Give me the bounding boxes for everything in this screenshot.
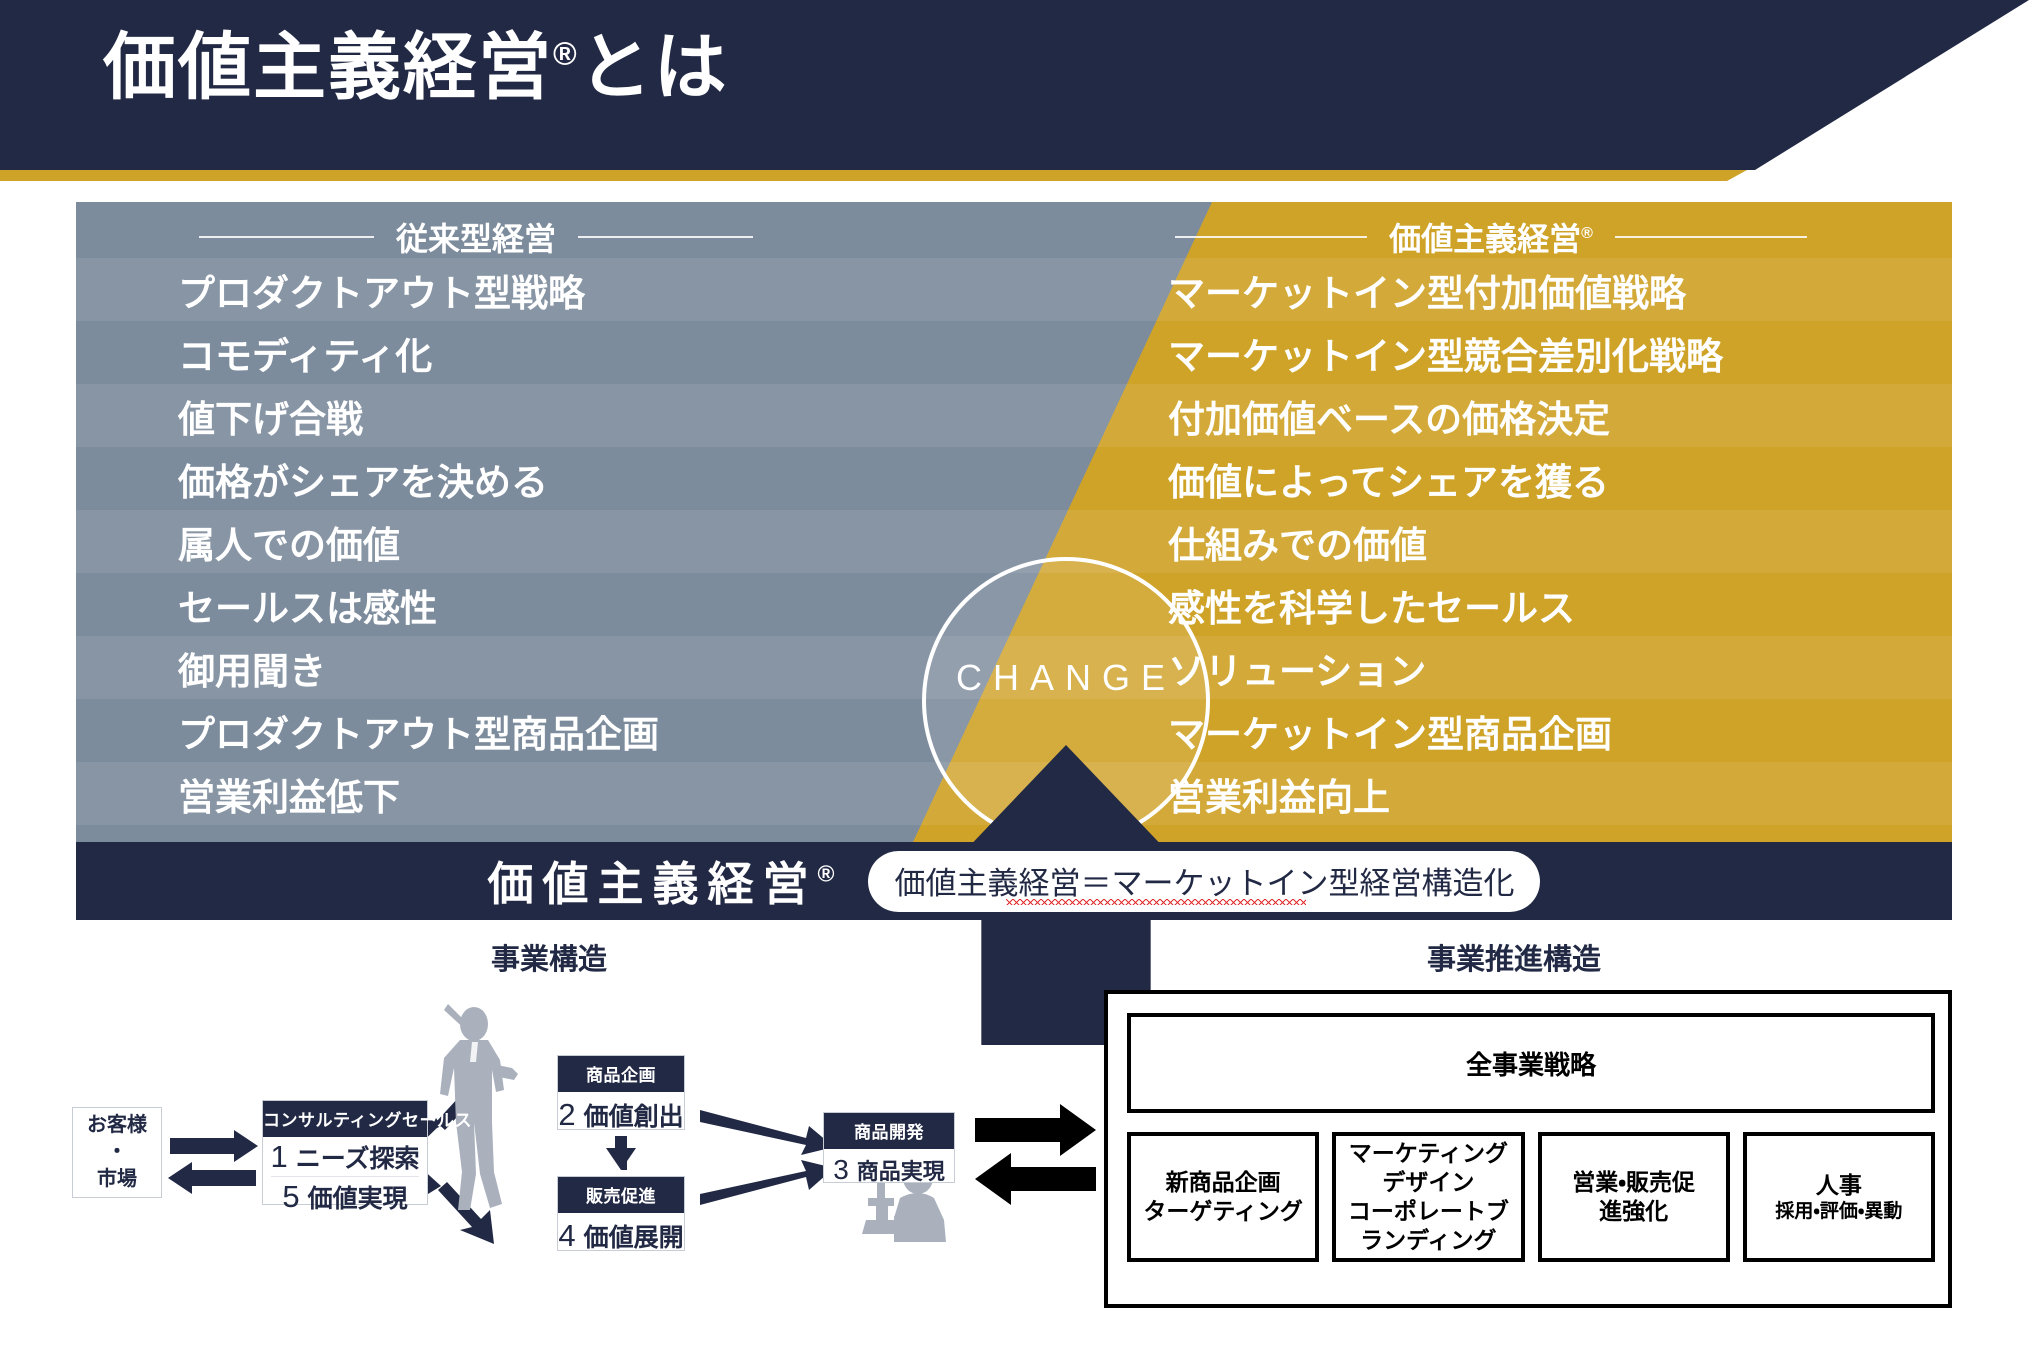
- header-gold-accent-bar: [0, 170, 2029, 181]
- box-line-2: ターゲティング: [1143, 1197, 1303, 1226]
- arrow-planning-promotion-vertical: [606, 1136, 636, 1170]
- list-item: プロダクトアウト型商品企画: [178, 699, 659, 762]
- arrow-promotion-to-dev: [700, 1160, 834, 1205]
- registered-trademark-icon: ®: [818, 861, 835, 887]
- value-based-management-banner: 価値主義経営® 価値主義経営＝マーケットイン型経営構造化: [76, 842, 1952, 920]
- box-line-4: ランディング: [1360, 1226, 1496, 1255]
- heading-rule-right: [1615, 236, 1807, 238]
- list-item: マーケットイン型競合差別化戦略: [1168, 321, 1723, 384]
- customer-market-card: お客様 ・ 市場: [72, 1107, 162, 1198]
- product-planning-card-header: 商品企画: [558, 1056, 684, 1092]
- traditional-management-heading-text: 従来型経営: [396, 214, 556, 260]
- list-item: 値下げ合戦: [178, 384, 659, 447]
- step-5-value-realization: 5 価値実現: [263, 1177, 427, 1216]
- business-structure-label: 事業構造: [491, 936, 607, 978]
- step-label: 価値創出: [584, 1097, 684, 1133]
- list-item: 付加価値ベースの価格決定: [1168, 384, 1723, 447]
- consulting-sales-steps: 1 ニーズ探索 5 価値実現: [263, 1137, 427, 1216]
- page-title-suffix: とは: [579, 27, 729, 108]
- spellcheck-underline-icon: [1006, 899, 1306, 905]
- list-item: 感性を科学したセールス: [1168, 573, 1723, 636]
- promotion-function-boxes: 新商品企画 ターゲティング マーケティング デザイン コーポレートブ ランディン…: [1127, 1132, 1935, 1262]
- list-item: コモディティ化: [178, 321, 659, 384]
- customer-line-1: お客様: [87, 1112, 147, 1139]
- list-item: 営業利益低下: [178, 762, 659, 825]
- all-business-strategy-box: 全事業戦略: [1127, 1013, 1935, 1113]
- value-based-management-heading: 価値主義経営®: [1076, 214, 1906, 260]
- product-development-card: 商品開発 3 商品実現: [823, 1112, 955, 1183]
- function-box-marketing-design-branding: マーケティング デザイン コーポレートブ ランディング: [1332, 1132, 1524, 1262]
- product-development-card-header: 商品開発: [824, 1113, 954, 1149]
- box-line-2: デザイン: [1382, 1168, 1474, 1197]
- customer-line-2: ・: [107, 1139, 127, 1166]
- arrow-customer-to-consult: [170, 1130, 258, 1162]
- step-number: 2: [558, 1097, 575, 1133]
- list-item: 価格がシェアを決める: [178, 447, 659, 510]
- traditional-management-list: プロダクトアウト型戦略 コモディティ化 値下げ合戦 価格がシェアを決める 属人で…: [178, 258, 659, 825]
- header-band: 価値主義経営®とは: [0, 0, 2029, 175]
- consulting-sales-card-header: コンサルティングセールス: [263, 1101, 427, 1137]
- step-label: 商品実現: [857, 1154, 945, 1186]
- step-number: 4: [558, 1218, 575, 1254]
- list-item: プロダクトアウト型戦略: [178, 258, 659, 321]
- definition-pill: 価値主義経営＝マーケットイン型経営構造化: [868, 851, 1540, 912]
- step-label: ニーズ探索: [296, 1139, 420, 1175]
- box-line-2: 進強化: [1599, 1197, 1668, 1226]
- list-item: 価値によってシェアを獲る: [1168, 447, 1723, 510]
- business-structure-diagram: お客様 ・ 市場 コンサルティングセールス 1 ニーズ探索 5 価値実現 商品企…: [0, 1000, 1100, 1330]
- arrow-planning-to-dev: [700, 1110, 834, 1155]
- definition-text: 価値主義経営＝マーケットイン型経営構造化: [894, 866, 1514, 901]
- function-box-human-resources: 人事 採用・評価・異動: [1743, 1132, 1935, 1262]
- list-item: マーケットイン型商品企画: [1168, 699, 1723, 762]
- consulting-sales-card: コンサルティングセールス 1 ニーズ探索 5 価値実現: [262, 1100, 428, 1205]
- page-title-main: 価値主義経営: [103, 27, 553, 108]
- change-label: CHANGE: [922, 657, 1210, 699]
- box-line-3: コーポレートブ: [1348, 1197, 1509, 1226]
- heading-text: 価値主義経営: [1389, 221, 1581, 257]
- value-based-management-mark: 価値主義経営®: [488, 848, 835, 914]
- box-line-1: 新商品企画: [1166, 1168, 1281, 1197]
- step-2-value-creation: 2 価値創出: [558, 1092, 684, 1138]
- step-label: 価値展開: [584, 1218, 684, 1254]
- step-3-product-realization: 3 商品実現: [824, 1149, 954, 1191]
- value-based-management-list: マーケットイン型付加価値戦略 マーケットイン型競合差別化戦略 付加価値ベースの価…: [1168, 258, 1723, 825]
- heading-rule-left: [1175, 236, 1367, 238]
- list-item: 御用聞き: [178, 636, 659, 699]
- mark-text: 価値主義経営: [488, 858, 818, 910]
- promotion-structure-label: 事業推進構造: [1427, 936, 1601, 978]
- traditional-management-heading: 従来型経営: [116, 214, 836, 260]
- value-based-management-heading-text: 価値主義経営®: [1389, 214, 1593, 260]
- function-box-sales-promotion-strengthening: 営業・販売促 進強化: [1538, 1132, 1730, 1262]
- registered-trademark-icon: ®: [553, 36, 579, 72]
- heading-rule-left: [199, 236, 374, 238]
- step-1-needs-exploration: 1 ニーズ探索: [263, 1137, 427, 1176]
- comparison-panel: CHANGE 従来型経営 価値主義経営® プロダクトアウト型戦略 コモディティ化…: [76, 202, 1952, 842]
- arrow-dev-to-promotion-structure: [975, 1104, 1096, 1156]
- heading-rule-right: [578, 236, 753, 238]
- arrow-promotion-structure-to-dev: [975, 1153, 1096, 1205]
- sales-promotion-card: 販売促進 4 価値展開: [557, 1176, 685, 1251]
- list-item: セールスは感性: [178, 573, 659, 636]
- box-line-1: 人事: [1816, 1171, 1862, 1200]
- step-number: 5: [282, 1179, 299, 1215]
- list-item: ソリューション: [1168, 636, 1723, 699]
- customer-line-3: 市場: [97, 1166, 137, 1193]
- step-number: 1: [270, 1139, 287, 1175]
- box-line-2: 採用・評価・異動: [1775, 1200, 1902, 1224]
- step-4-value-deployment: 4 価値展開: [558, 1213, 684, 1259]
- function-box-new-product-planning: 新商品企画 ターゲティング: [1127, 1132, 1319, 1262]
- box-line-1: マーケティング: [1349, 1139, 1508, 1168]
- arrow-consult-to-customer: [168, 1162, 256, 1194]
- promotion-structure-diagram: 全事業戦略 新商品企画 ターゲティング マーケティング デザイン コーポレートブ…: [1104, 990, 1952, 1308]
- step-label: 価値実現: [308, 1179, 408, 1215]
- list-item: マーケットイン型付加価値戦略: [1168, 258, 1723, 321]
- box-line-1: 営業・販売促: [1572, 1168, 1695, 1197]
- sales-promotion-card-header: 販売促進: [558, 1177, 684, 1213]
- step-number: 3: [833, 1154, 849, 1186]
- list-item: 属人での価値: [178, 510, 659, 573]
- registered-trademark-icon: ®: [1581, 225, 1593, 242]
- product-planning-card: 商品企画 2 価値創出: [557, 1055, 685, 1130]
- list-item: 営業利益向上: [1168, 762, 1723, 825]
- list-item: 仕組みでの価値: [1168, 510, 1723, 573]
- page-title: 価値主義経営®とは: [103, 28, 729, 108]
